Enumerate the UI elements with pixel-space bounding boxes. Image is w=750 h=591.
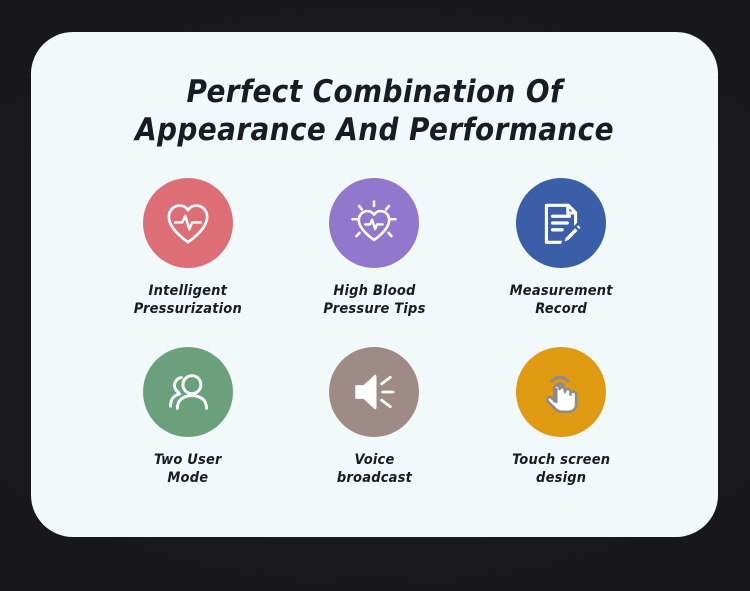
feature-icon-badge [143, 347, 233, 437]
heart-alert-rays-icon [346, 195, 402, 251]
feature-icon-badge [329, 178, 419, 268]
feature-label: Touch screen design [512, 451, 610, 488]
two-users-icon [161, 365, 215, 419]
feature-label-line-1: Two User [154, 451, 222, 470]
feature-card: Perfect Combination Of Appearance And Pe… [31, 32, 718, 537]
feature-item-touch-screen-design[interactable]: Touch screen design [468, 347, 655, 488]
page-title: Perfect Combination Of Appearance And Pe… [31, 32, 718, 150]
feature-item-measurement-record[interactable]: Measurement Record [468, 178, 655, 319]
feature-label-line-1: High Blood [323, 282, 425, 301]
feature-label-line-1: Touch screen [512, 451, 610, 470]
feature-item-intelligent-pressurization[interactable]: Intelligent Pressurization [95, 178, 282, 319]
feature-item-high-blood-pressure-tips[interactable]: High Blood Pressure Tips [281, 178, 468, 319]
feature-label-line-2: design [512, 469, 610, 488]
feature-label-line-1: Intelligent [134, 282, 242, 301]
feature-label-line-2: broadcast [337, 469, 412, 488]
feature-label: High Blood Pressure Tips [323, 282, 425, 319]
feature-grid: Intelligent Pressurization [95, 150, 655, 488]
feature-label: Voice broadcast [337, 451, 412, 488]
page-title-line-1: Perfect Combination Of [31, 74, 718, 112]
feature-label-line-2: Pressure Tips [323, 300, 425, 319]
feature-label: Measurement Record [510, 282, 613, 319]
tap-hand-icon [536, 367, 586, 417]
feature-icon-badge [516, 347, 606, 437]
feature-label: Intelligent Pressurization [134, 282, 242, 319]
feature-label-line-2: Mode [154, 469, 222, 488]
feature-label-line-1: Voice [337, 451, 412, 470]
feature-item-voice-broadcast[interactable]: Voice broadcast [281, 347, 468, 488]
feature-item-two-user-mode[interactable]: Two User Mode [95, 347, 282, 488]
feature-label: Two User Mode [154, 451, 222, 488]
page-root: Perfect Combination Of Appearance And Pe… [0, 0, 750, 591]
feature-icon-badge [329, 347, 419, 437]
feature-label-line-2: Record [510, 300, 613, 319]
heart-pulse-icon [161, 196, 215, 250]
document-pencil-icon [536, 198, 586, 248]
feature-label-line-2: Pressurization [134, 300, 242, 319]
feature-label-line-1: Measurement [510, 282, 613, 301]
feature-icon-badge [516, 178, 606, 268]
page-title-line-2: Appearance And Performance [31, 112, 718, 150]
feature-icon-badge [143, 178, 233, 268]
speaker-sound-icon [348, 366, 400, 418]
